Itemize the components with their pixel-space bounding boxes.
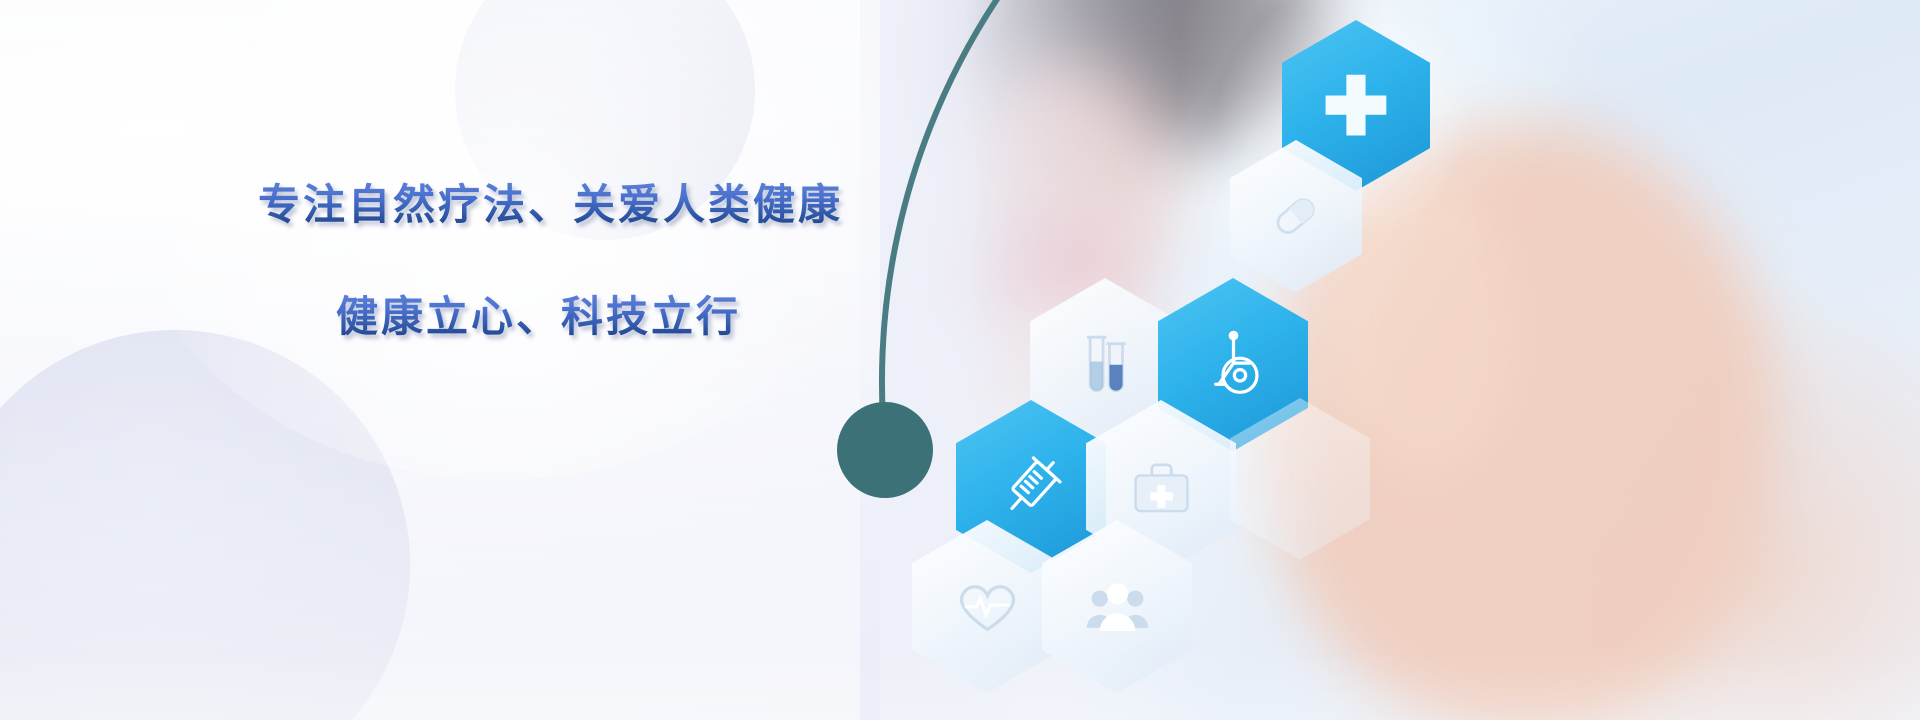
people-group-icon — [1077, 560, 1158, 654]
test-tubes-icon — [1065, 318, 1146, 412]
headline-line-1: 专注自然疗法、关爱人类健康 — [258, 182, 858, 228]
headline-block: 专注自然疗法、关爱人类健康 健康立心、科技立行 — [258, 182, 858, 340]
wheelchair-icon — [1193, 318, 1274, 412]
capsule-pill-icon — [1260, 175, 1331, 257]
empty-hex-icon — [1262, 435, 1338, 522]
medical-cross-icon — [1316, 59, 1396, 151]
medical-kit-icon — [1121, 440, 1202, 534]
heart-pulse-icon — [947, 560, 1028, 654]
syringe-icon — [991, 440, 1072, 534]
hexagon-hud — [900, 0, 1920, 720]
headline-line-2: 健康立心、科技立行 — [336, 294, 858, 340]
hero-banner: 专注自然疗法、关爱人类健康 健康立心、科技立行 — [0, 0, 1920, 720]
